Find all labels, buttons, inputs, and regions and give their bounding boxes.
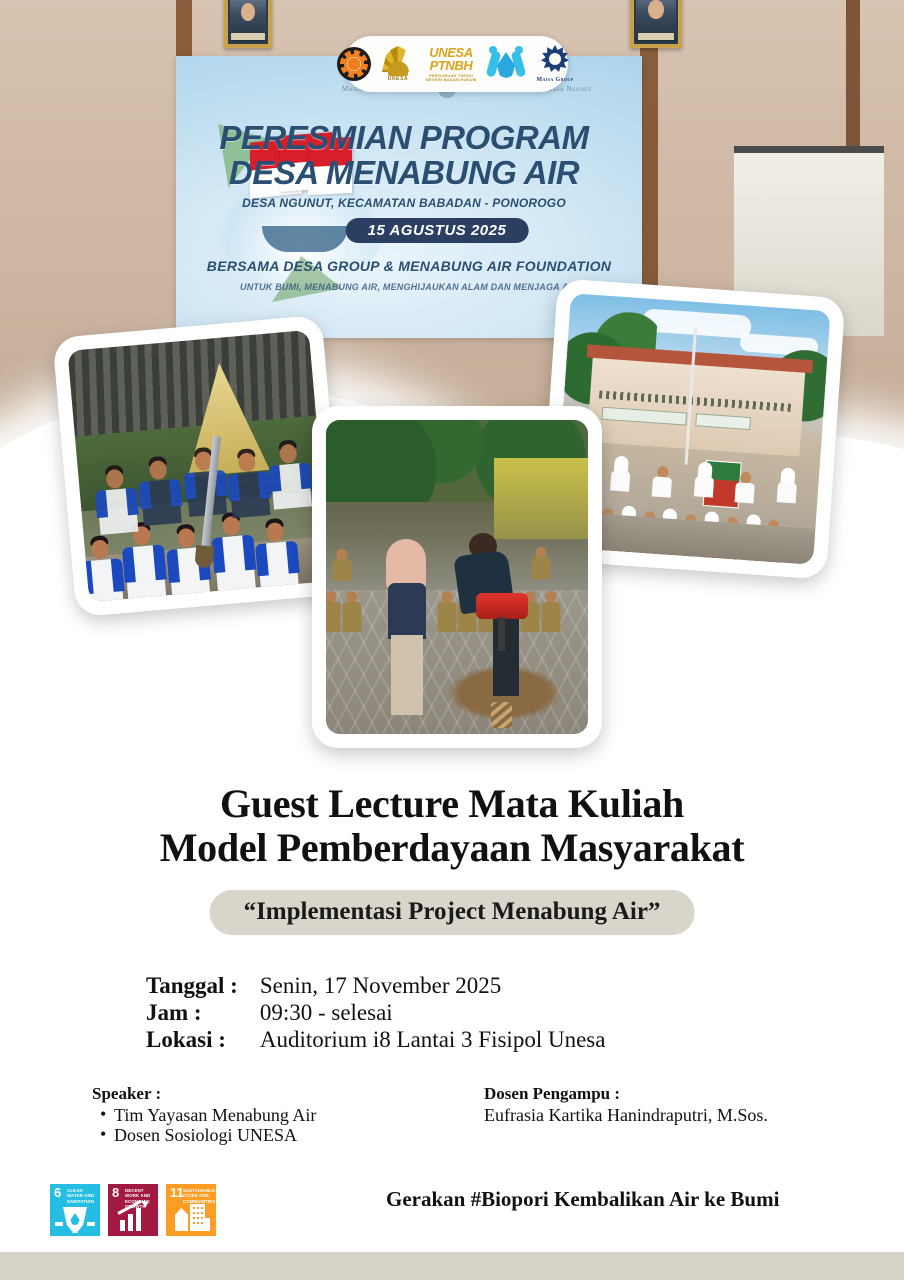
water-bowl-graphic <box>262 226 348 252</box>
speaker-column: Speaker : Tim Yayasan Menabung Air Dosen… <box>92 1084 422 1145</box>
sdg-label: Sustainable Cities and Communities <box>183 1188 213 1204</box>
speaker-list: Tim Yayasan Menabung Air Dosen Sosiologi… <box>92 1105 422 1145</box>
detail-value-lokasi: Auditorium i8 Lantai 3 Fisipol Unesa <box>260 1026 606 1053</box>
title-line-1: Guest Lecture Mata Kuliah <box>0 782 904 826</box>
lecturer-name: Eufrasia Kartika Hanindraputri, M.Sos. <box>484 1105 768 1125</box>
bottom-band <box>0 1252 904 1280</box>
maisa-group-star-logo: Maisa Group <box>535 45 575 83</box>
bar-chart-arrow-icon <box>108 1203 158 1233</box>
sdg-icons-row: 6 Clean Water and Sanitation 8 Decent Wo… <box>50 1184 216 1236</box>
sdg-label: Clean Water and Sanitation <box>67 1188 97 1204</box>
detail-label-tanggal: Tanggal : <box>146 972 238 999</box>
photo-biopori-drilling-demo <box>312 406 602 748</box>
water-glass-droplet-icon <box>50 1203 100 1233</box>
sdg-number: 8 <box>112 1187 119 1199</box>
photo-image <box>67 330 330 602</box>
auger-machine <box>476 583 528 727</box>
sdg-number: 11 <box>170 1187 184 1199</box>
photo-image <box>326 420 588 734</box>
sdg-11-sustainable-cities-icon: 11 Sustainable Cities and Communities <box>166 1184 216 1236</box>
detail-label-jam: Jam : <box>146 999 238 1026</box>
sdg-8-decent-work-icon: 8 Decent Work and Economic Growth <box>108 1184 158 1236</box>
ptnbh-line2: PTNBH <box>425 59 477 72</box>
unesa-emblem-label: UNESA <box>382 76 414 82</box>
ptnbh-line3: PERGURUAN TINGGI NEGERI BADAN HUKUM <box>425 74 477 82</box>
page-title: Guest Lecture Mata Kuliah Model Pemberda… <box>0 782 904 870</box>
list-item: Tim Yayasan Menabung Air <box>92 1105 422 1125</box>
detail-value-jam: 09:30 - selesai <box>260 999 606 1026</box>
speaker-section: Speaker : Tim Yayasan Menabung Air Dosen… <box>92 1084 844 1145</box>
event-details: Tanggal : Senin, 17 November 2025 Jam : … <box>146 972 605 1053</box>
maisa-group-label: Maisa Group <box>535 77 575 83</box>
framed-portrait <box>630 0 682 48</box>
banner-date-badge: 15 AGUSTUS 2025 <box>346 218 529 243</box>
subtitle-badge: “Implementasi Project Menabung Air” <box>210 890 695 935</box>
unesa-ptnbh-wordmark-logo: UNESA PTNBH PERGURUAN TINGGI NEGERI BADA… <box>425 46 477 82</box>
partner-logo-pill: UNESA UNESA PTNBH PERGURUAN TINGGI NEGER… <box>344 36 568 92</box>
facilitator-figure <box>378 539 442 715</box>
title-line-2: Model Pemberdayaan Masyarakat <box>0 826 904 870</box>
lecturer-heading: Dosen Pengampu : <box>484 1084 768 1104</box>
tut-wuri-handayani-gear-logo <box>337 47 371 81</box>
banner-title-line1: PERESMIAN PROGRAM <box>176 120 632 155</box>
detail-value-tanggal: Senin, 17 November 2025 <box>260 972 606 999</box>
photo-students-biopori-drill <box>52 315 345 617</box>
banner-title-line2: DESA MENABUNG AIR <box>176 155 632 190</box>
menabung-air-droplet-logo <box>488 46 524 82</box>
speaker-heading: Speaker : <box>92 1084 422 1104</box>
banner-partners: BERSAMA DESA GROUP & MENABUNG AIR FOUNDA… <box>176 258 642 274</box>
sdg-number: 6 <box>54 1187 61 1199</box>
buildings-icon <box>166 1203 216 1233</box>
framed-portrait <box>224 0 272 48</box>
lecturer-column: Dosen Pengampu : Eufrasia Kartika Hanind… <box>484 1084 768 1145</box>
poster-root: Maisa Group Pemerintah Desa Ngunut PERES… <box>0 0 904 1280</box>
portrait-plate <box>231 33 265 40</box>
sdg-6-clean-water-icon: 6 Clean Water and Sanitation <box>50 1184 100 1236</box>
unesa-crown-emblem-logo: UNESA <box>382 46 414 82</box>
list-item: Dosen Sosiologi UNESA <box>92 1125 422 1145</box>
campaign-tagline: Gerakan #Biopori Kembalikan Air ke Bumi <box>386 1187 779 1212</box>
banner-location: DESA NGUNUT, KECAMATAN BABADAN - PONOROG… <box>176 196 632 210</box>
banner-title: PERESMIAN PROGRAM DESA MENABUNG AIR <box>176 120 632 190</box>
portrait-plate <box>638 33 675 40</box>
detail-label-lokasi: Lokasi : <box>146 1026 238 1053</box>
